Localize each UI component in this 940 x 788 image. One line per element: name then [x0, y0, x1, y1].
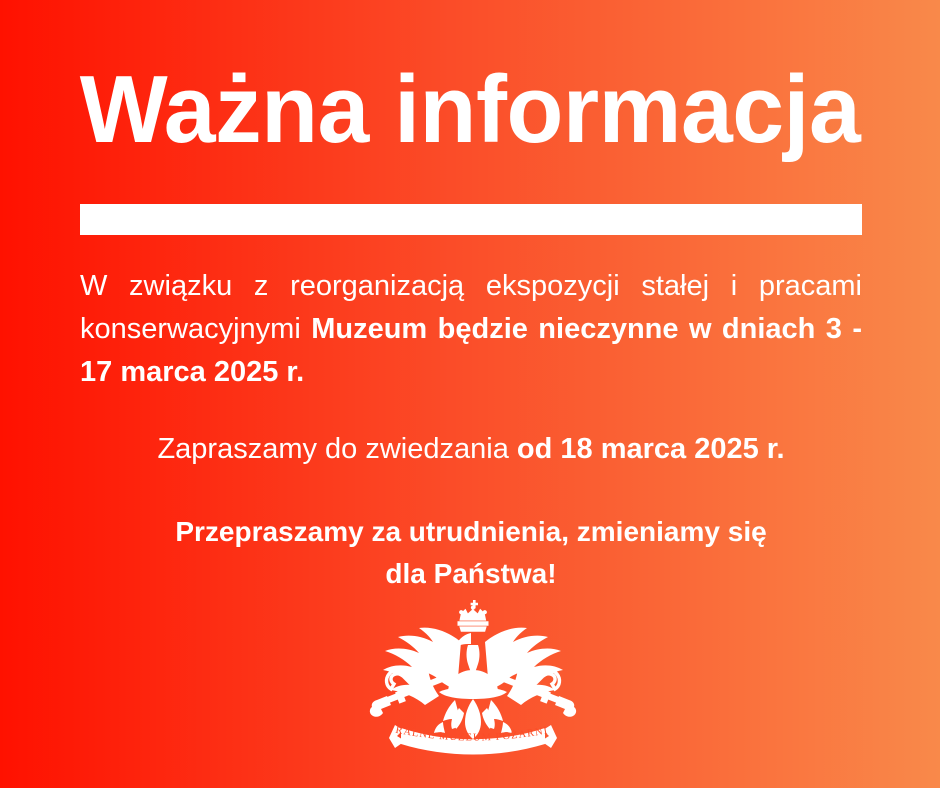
- eagle-left-claw: [434, 700, 458, 733]
- reopening-invite-lead: Zapraszamy do zwiedzania: [157, 433, 516, 465]
- paragraph-closure-notice: W związku z reorganizacją ekspozycji sta…: [80, 265, 862, 394]
- museum-logo: CENTRALNE MUZEUM POŻARNICTWA: [367, 596, 579, 758]
- eagle-right-claw: [488, 700, 512, 733]
- page-title: Ważna informacja: [14, 58, 926, 162]
- reopening-invite-date: od 18 marca 2025 r.: [517, 433, 785, 465]
- apology-line-1: Przepraszamy za utrudnienia, zmieniamy s…: [175, 516, 766, 547]
- title-divider-bar: [80, 204, 862, 235]
- paragraph-reopening-invite: Zapraszamy do zwiedzania od 18 marca 202…: [80, 428, 862, 471]
- announcement-body: W związku z reorganizacją ekspozycji sta…: [80, 265, 862, 595]
- paragraph-apology: Przepraszamy za utrudnienia, zmieniamy s…: [80, 511, 862, 595]
- apology-line-2: dla Państwa!: [385, 558, 556, 589]
- crown-icon: [458, 600, 489, 632]
- poster-background: Ważna informacja W związku z reorganizac…: [0, 0, 940, 788]
